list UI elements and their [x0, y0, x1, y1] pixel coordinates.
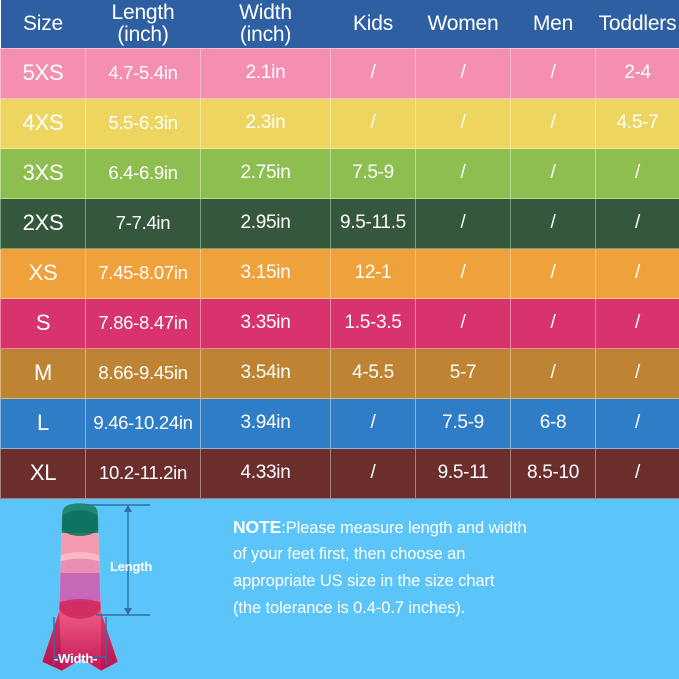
cell-size: S — [1, 298, 86, 348]
cell-toddlers: / — [596, 248, 679, 298]
column-header-size-label: Size — [23, 12, 63, 35]
cell-size: 4XS — [1, 98, 86, 148]
cell-toddlers: / — [596, 448, 679, 498]
cell-length: 9.46-10.24in — [86, 398, 201, 448]
cell-toddlers: / — [596, 198, 679, 248]
cell-women: / — [416, 298, 511, 348]
cell-toddlers: / — [596, 348, 679, 398]
cell-size: 5XS — [1, 48, 86, 98]
column-header-width: Width (inch) — [201, 0, 331, 48]
swim-fin-diagram — [0, 499, 215, 678]
cell-kids: 9.5-11.5 — [331, 198, 416, 248]
cell-width: 2.3in — [201, 98, 331, 148]
column-header-width-label: Width — [239, 1, 292, 24]
cell-width: 3.15in — [201, 248, 331, 298]
cell-size: XS — [1, 248, 86, 298]
cell-width: 3.54in — [201, 348, 331, 398]
header-row: Size Length (inch) Width (inch) Kids Wom… — [1, 0, 679, 48]
cell-men: 6-8 — [511, 398, 596, 448]
column-header-toddlers-label: Toddlers — [599, 12, 677, 35]
cell-men: / — [511, 298, 596, 348]
table-row: L9.46-10.24in3.94in/7.5-96-8/ — [1, 398, 679, 448]
column-header-length: Length (inch) — [86, 0, 201, 48]
cell-men: / — [511, 348, 596, 398]
cell-length: 8.66-9.45in — [86, 348, 201, 398]
cell-size: 3XS — [1, 148, 86, 198]
table-row: 5XS4.7-5.4in2.1in///2-4 — [1, 48, 679, 98]
table-row: 4XS5.5-6.3in2.3in///4.5-7 — [1, 98, 679, 148]
note-line-3: appropriate US size in the size chart — [233, 568, 665, 595]
cell-size: M — [1, 348, 86, 398]
table-row: XS7.45-8.07in3.15in12-1/// — [1, 248, 679, 298]
cell-women: / — [416, 248, 511, 298]
cell-women: / — [416, 48, 511, 98]
cell-women: 9.5-11 — [416, 448, 511, 498]
column-header-width-unit: (inch) — [203, 24, 329, 45]
cell-kids: 1.5-3.5 — [331, 298, 416, 348]
cell-kids: / — [331, 448, 416, 498]
cell-width: 3.94in — [201, 398, 331, 448]
column-header-men: Men — [511, 0, 596, 48]
cell-length: 10.2-11.2in — [86, 448, 201, 498]
cell-men: / — [511, 198, 596, 248]
cell-kids: / — [331, 98, 416, 148]
cell-length: 7-7.4in — [86, 198, 201, 248]
cell-men: / — [511, 148, 596, 198]
fin-diagram-panel: Length -Width- — [0, 499, 215, 679]
cell-men: / — [511, 98, 596, 148]
cell-kids: 12-1 — [331, 248, 416, 298]
cell-length: 4.7-5.4in — [86, 48, 201, 98]
note-line-1-text: :Please measure length and width — [281, 519, 526, 537]
length-dimension-label: Length — [110, 559, 152, 574]
column-header-toddlers: Toddlers — [596, 0, 679, 48]
column-header-length-unit: (inch) — [88, 24, 199, 45]
cell-women: / — [416, 148, 511, 198]
cell-length: 7.86-8.47in — [86, 298, 201, 348]
note-line-4: (the tolerance is 0.4-0.7 inches). — [233, 595, 665, 622]
cell-women: 7.5-9 — [416, 398, 511, 448]
note-line-2: of your feet first, then choose an — [233, 541, 665, 568]
cell-men: / — [511, 48, 596, 98]
cell-size: XL — [1, 448, 86, 498]
column-header-size: Size — [1, 0, 86, 48]
cell-toddlers: / — [596, 148, 679, 198]
column-header-men-label: Men — [533, 12, 573, 35]
column-header-kids-label: Kids — [353, 12, 393, 35]
note-section: Length -Width- NOTE:Please measure lengt… — [0, 499, 679, 679]
note-line-1: NOTE:Please measure length and width — [233, 513, 665, 542]
table-body: 5XS4.7-5.4in2.1in///2-44XS5.5-6.3in2.3in… — [1, 48, 679, 498]
column-header-length-label: Length — [111, 1, 174, 24]
cell-kids: / — [331, 48, 416, 98]
table-header: Size Length (inch) Width (inch) Kids Wom… — [1, 0, 679, 48]
cell-women: / — [416, 198, 511, 248]
cell-toddlers: 4.5-7 — [596, 98, 679, 148]
cell-width: 2.95in — [201, 198, 331, 248]
cell-kids: 4-5.5 — [331, 348, 416, 398]
note-label: NOTE — [233, 517, 281, 537]
column-header-women: Women — [416, 0, 511, 48]
column-header-women-label: Women — [428, 12, 499, 35]
cell-toddlers: / — [596, 398, 679, 448]
cell-size: 2XS — [1, 198, 86, 248]
cell-length: 5.5-6.3in — [86, 98, 201, 148]
size-chart-page: Size Length (inch) Width (inch) Kids Wom… — [0, 0, 679, 679]
cell-width: 2.1in — [201, 48, 331, 98]
cell-toddlers: 2-4 — [596, 48, 679, 98]
cell-kids: / — [331, 398, 416, 448]
table-row: M8.66-9.45in3.54in4-5.55-7// — [1, 348, 679, 398]
cell-width: 2.75in — [201, 148, 331, 198]
table-row: XL10.2-11.2in4.33in/9.5-118.5-10/ — [1, 448, 679, 498]
cell-women: 5-7 — [416, 348, 511, 398]
cell-size: L — [1, 398, 86, 448]
column-header-kids: Kids — [331, 0, 416, 48]
cell-toddlers: / — [596, 298, 679, 348]
cell-kids: 7.5-9 — [331, 148, 416, 198]
cell-men: 8.5-10 — [511, 448, 596, 498]
cell-width: 4.33in — [201, 448, 331, 498]
table-row: 3XS6.4-6.9in2.75in7.5-9/// — [1, 148, 679, 198]
cell-length: 7.45-8.07in — [86, 248, 201, 298]
note-text-panel: NOTE:Please measure length and width of … — [215, 499, 679, 679]
cell-length: 6.4-6.9in — [86, 148, 201, 198]
width-dimension-label: -Width- — [54, 651, 97, 666]
cell-women: / — [416, 98, 511, 148]
cell-men: / — [511, 248, 596, 298]
size-chart-table: Size Length (inch) Width (inch) Kids Wom… — [0, 0, 679, 499]
cell-width: 3.35in — [201, 298, 331, 348]
table-row: 2XS7-7.4in2.95in9.5-11.5/// — [1, 198, 679, 248]
table-row: S7.86-8.47in3.35in1.5-3.5/// — [1, 298, 679, 348]
